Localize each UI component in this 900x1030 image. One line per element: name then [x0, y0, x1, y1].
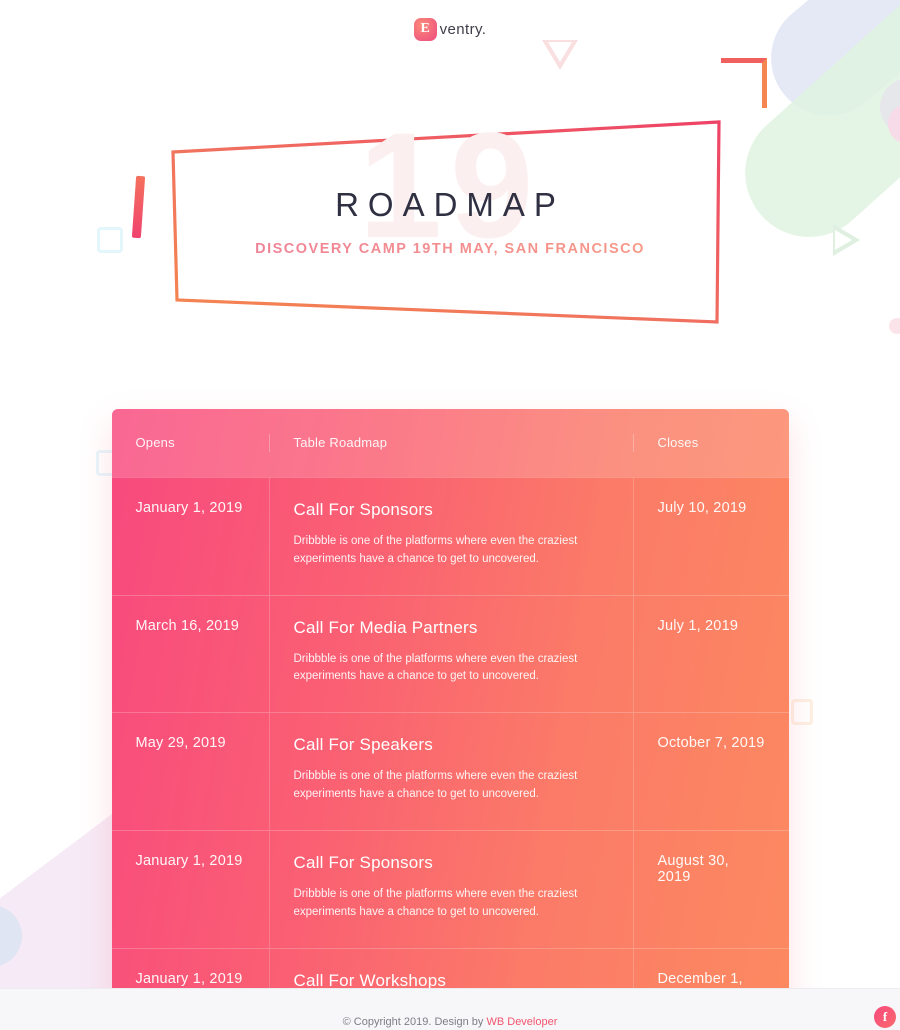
site-header: E ventry.: [0, 0, 900, 58]
eventry-logo-icon: E: [414, 18, 437, 41]
row-description: Dribbble is one of the platforms where e…: [294, 533, 609, 569]
table-row[interactable]: January 1, 2019 Call For Sponsors Dribbb…: [112, 477, 789, 595]
close-date: October 7, 2019: [658, 735, 765, 751]
credit-link[interactable]: WB Developer: [486, 1016, 557, 1028]
open-date: January 1, 2019: [136, 971, 245, 987]
table-row[interactable]: January 1, 2019 Call For Sponsors Dribbb…: [112, 830, 789, 948]
column-header-label: Closes: [658, 435, 699, 450]
close-date: July 10, 2019: [658, 500, 765, 516]
table-row[interactable]: May 29, 2019 Call For Speakers Dribbble …: [112, 712, 789, 830]
open-date: May 29, 2019: [136, 735, 245, 751]
cell-opens: January 1, 2019: [112, 478, 270, 595]
open-date: January 1, 2019: [136, 500, 245, 516]
row-title: Call For Media Partners: [294, 618, 609, 638]
site-logo-label: ventry.: [440, 21, 487, 38]
row-description: Dribbble is one of the platforms where e…: [294, 768, 609, 804]
hero-subtitle: DISCOVERY CAMP 19TH MAY, SAN FRANCISCO: [0, 241, 900, 257]
site-logo[interactable]: E ventry.: [414, 18, 487, 41]
site-footer: © Copyright 2019. Design by WB Developer: [0, 988, 900, 1030]
page-title: ROADMAP: [0, 186, 900, 224]
cell-closes: July 10, 2019: [634, 478, 789, 595]
cell-closes: July 1, 2019: [634, 596, 789, 713]
close-date: August 30, 2019: [658, 853, 765, 885]
hero-watermark: 19: [0, 110, 900, 260]
facebook-icon[interactable]: f: [874, 1006, 896, 1028]
square-outline-icon: [791, 699, 813, 725]
row-title: Call For Sponsors: [294, 500, 609, 520]
column-header-label: Opens: [136, 435, 175, 450]
column-header-opens: Opens: [112, 434, 270, 452]
cell-roadmap: Call For Media Partners Dribbble is one …: [270, 596, 634, 713]
cell-closes: October 7, 2019: [634, 713, 789, 830]
cell-opens: January 1, 2019: [112, 831, 270, 948]
open-date: March 16, 2019: [136, 618, 245, 634]
table-row[interactable]: March 16, 2019 Call For Media Partners D…: [112, 595, 789, 713]
copyright-text: © Copyright 2019. Design by WB Developer: [343, 992, 558, 1028]
row-description: Dribbble is one of the platforms where e…: [294, 886, 609, 922]
column-header-label: Table Roadmap: [294, 435, 388, 450]
open-date: January 1, 2019: [136, 853, 245, 869]
table-header-row: Opens Table Roadmap Closes: [112, 409, 789, 477]
column-header-closes: Closes: [634, 434, 789, 452]
blob-blue-bottom-shape: [0, 905, 22, 967]
hero-section: 19 ROADMAP DISCOVERY CAMP 19TH MAY, SAN …: [0, 58, 900, 323]
row-title: Call For Sponsors: [294, 853, 609, 873]
copyright-prefix: © Copyright 2019. Design by: [343, 1016, 487, 1028]
row-description: Dribbble is one of the platforms where e…: [294, 651, 609, 687]
cell-roadmap: Call For Sponsors Dribbble is one of the…: [270, 478, 634, 595]
cell-roadmap: Call For Sponsors Dribbble is one of the…: [270, 831, 634, 948]
cell-closes: August 30, 2019: [634, 831, 789, 948]
cell-roadmap: Call For Speakers Dribbble is one of the…: [270, 713, 634, 830]
column-header-roadmap: Table Roadmap: [270, 434, 634, 452]
close-date: July 1, 2019: [658, 618, 765, 634]
cell-opens: May 29, 2019: [112, 713, 270, 830]
row-title: Call For Speakers: [294, 735, 609, 755]
cell-opens: March 16, 2019: [112, 596, 270, 713]
roadmap-table: Opens Table Roadmap Closes January 1, 20…: [112, 409, 789, 1030]
